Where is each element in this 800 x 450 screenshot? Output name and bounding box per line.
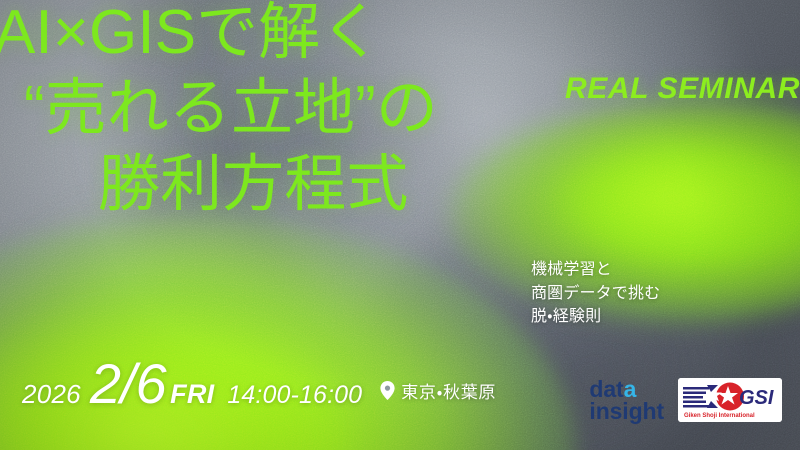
subtitle-line-3: 脱・経験則 — [531, 305, 660, 329]
gsi-logo-wordmark: GSI — [739, 387, 774, 409]
gsi-logo-tagline: Giken Shoji International — [684, 413, 755, 419]
event-venue: 東京・秋葉原 — [380, 378, 496, 403]
event-time: 14:00-16:00 — [227, 381, 362, 410]
seminar-banner: AI×GISで解く “売れる立地”の 勝利方程式 REAL SEMINAR 機械… — [0, 0, 800, 450]
subtitle: 機械学習と 商圏データで挑む 脱・経験則 — [531, 258, 660, 329]
headline: AI×GISで解く “売れる立地”の 勝利方程式 — [0, 0, 560, 216]
data-insight-logo-line-2: insight — [589, 400, 664, 422]
headline-line-2: “売れる立地”の — [24, 78, 560, 140]
map-pin-icon — [380, 381, 395, 400]
logo-group: data insight — [589, 378, 782, 422]
venue-name: 東京・秋葉原 — [401, 378, 496, 403]
eyebrow-real-seminar: REAL SEMINAR — [565, 72, 800, 106]
headline-line-1: AI×GISで解く — [0, 2, 560, 64]
event-date: 2/6 — [90, 351, 166, 416]
event-weekday: FRI — [170, 379, 214, 410]
banner-content: AI×GISで解く “売れる立地”の 勝利方程式 REAL SEMINAR 機械… — [0, 0, 800, 450]
schedule-row: 2026 2/6 FRI 14:00-16:00 東京・秋葉原 — [22, 351, 496, 416]
gsi-logo: GSI Giken Shoji International — [678, 378, 782, 422]
event-year: 2026 — [22, 379, 81, 410]
subtitle-line-2: 商圏データで挑む — [531, 282, 660, 306]
data-insight-logo-line-1: data — [589, 378, 664, 400]
subtitle-line-1: 機械学習と — [531, 258, 660, 282]
data-insight-logo: data insight — [589, 378, 664, 422]
headline-line-3: 勝利方程式 — [98, 154, 560, 216]
